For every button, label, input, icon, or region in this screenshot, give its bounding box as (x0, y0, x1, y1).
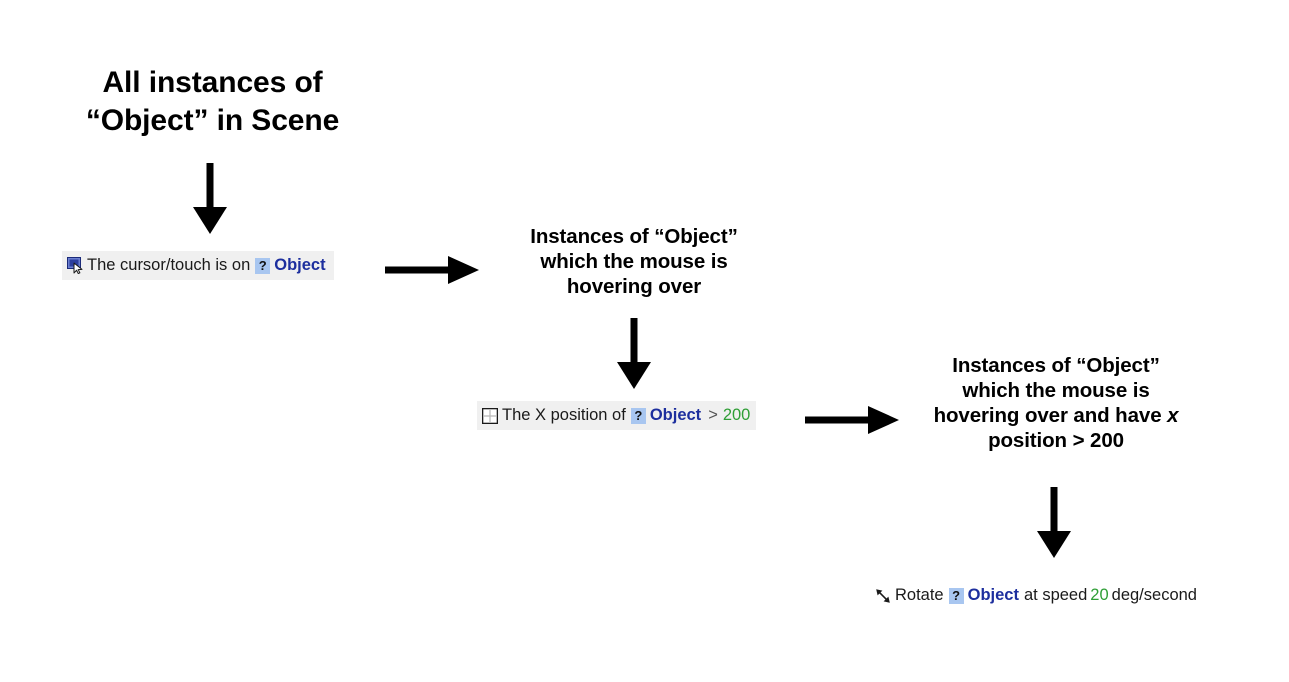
object-token-2[interactable]: ? Object (631, 406, 701, 425)
object-badge-question-icon: ? (949, 588, 964, 604)
caption-hover-x-line1: Instances of “Object” (952, 354, 1160, 377)
statement-x-position-of-object[interactable]: The X position of ? Object > 200 (477, 401, 756, 430)
arrow-down-1 (190, 163, 230, 235)
caption-hover-x-line2: which the mouse is (962, 379, 1149, 402)
comparison-operator: > (705, 406, 721, 425)
object-badge-question-icon: ? (255, 258, 270, 274)
object-token-1[interactable]: ? Object (255, 256, 325, 275)
arrow-right-2 (805, 402, 901, 438)
object-token-3[interactable]: ? Object (949, 586, 1019, 605)
statement-2-text-before: The X position of (501, 406, 627, 425)
x-position-threshold-value[interactable]: 200 (721, 406, 753, 425)
arrow-down-2 (614, 318, 654, 390)
object-label-3: Object (968, 586, 1019, 605)
cursor-on-object-icon (66, 257, 84, 275)
position-grid-icon (481, 407, 499, 425)
rotate-speed-value[interactable]: 20 (1088, 586, 1110, 605)
statement-3-text-after: deg/second (1111, 586, 1198, 605)
statement-3-text-before: Rotate (894, 586, 945, 605)
object-label-1: Object (274, 256, 325, 275)
caption-instances-hovering-x-position: Instances of “Object” which the mouse is… (925, 353, 1187, 453)
rotate-diagonal-icon (874, 587, 892, 605)
statement-1-text-before: The cursor/touch is on (86, 256, 251, 275)
statement-cursor-on-object[interactable]: The cursor/touch is on ? Object (62, 251, 334, 280)
arrow-down-3 (1034, 487, 1074, 559)
caption-hover-x-line4: position > 200 (988, 429, 1124, 452)
statement-rotate-object[interactable]: Rotate ? Object at speed 20 deg/second (870, 581, 1202, 610)
caption-hover-x-line3-pre: hovering over and have (934, 404, 1168, 427)
object-badge-question-icon: ? (631, 408, 646, 424)
statement-3-text-middle: at speed (1023, 586, 1088, 605)
caption-instances-hovering: Instances of “Object” which the mouse is… (500, 224, 768, 299)
object-label-2: Object (650, 406, 701, 425)
caption-hover-x-italic-x: x (1167, 404, 1178, 427)
caption-all-instances-of-object: All instances of “Object” in Scene (40, 64, 385, 141)
arrow-right-1 (385, 252, 481, 288)
